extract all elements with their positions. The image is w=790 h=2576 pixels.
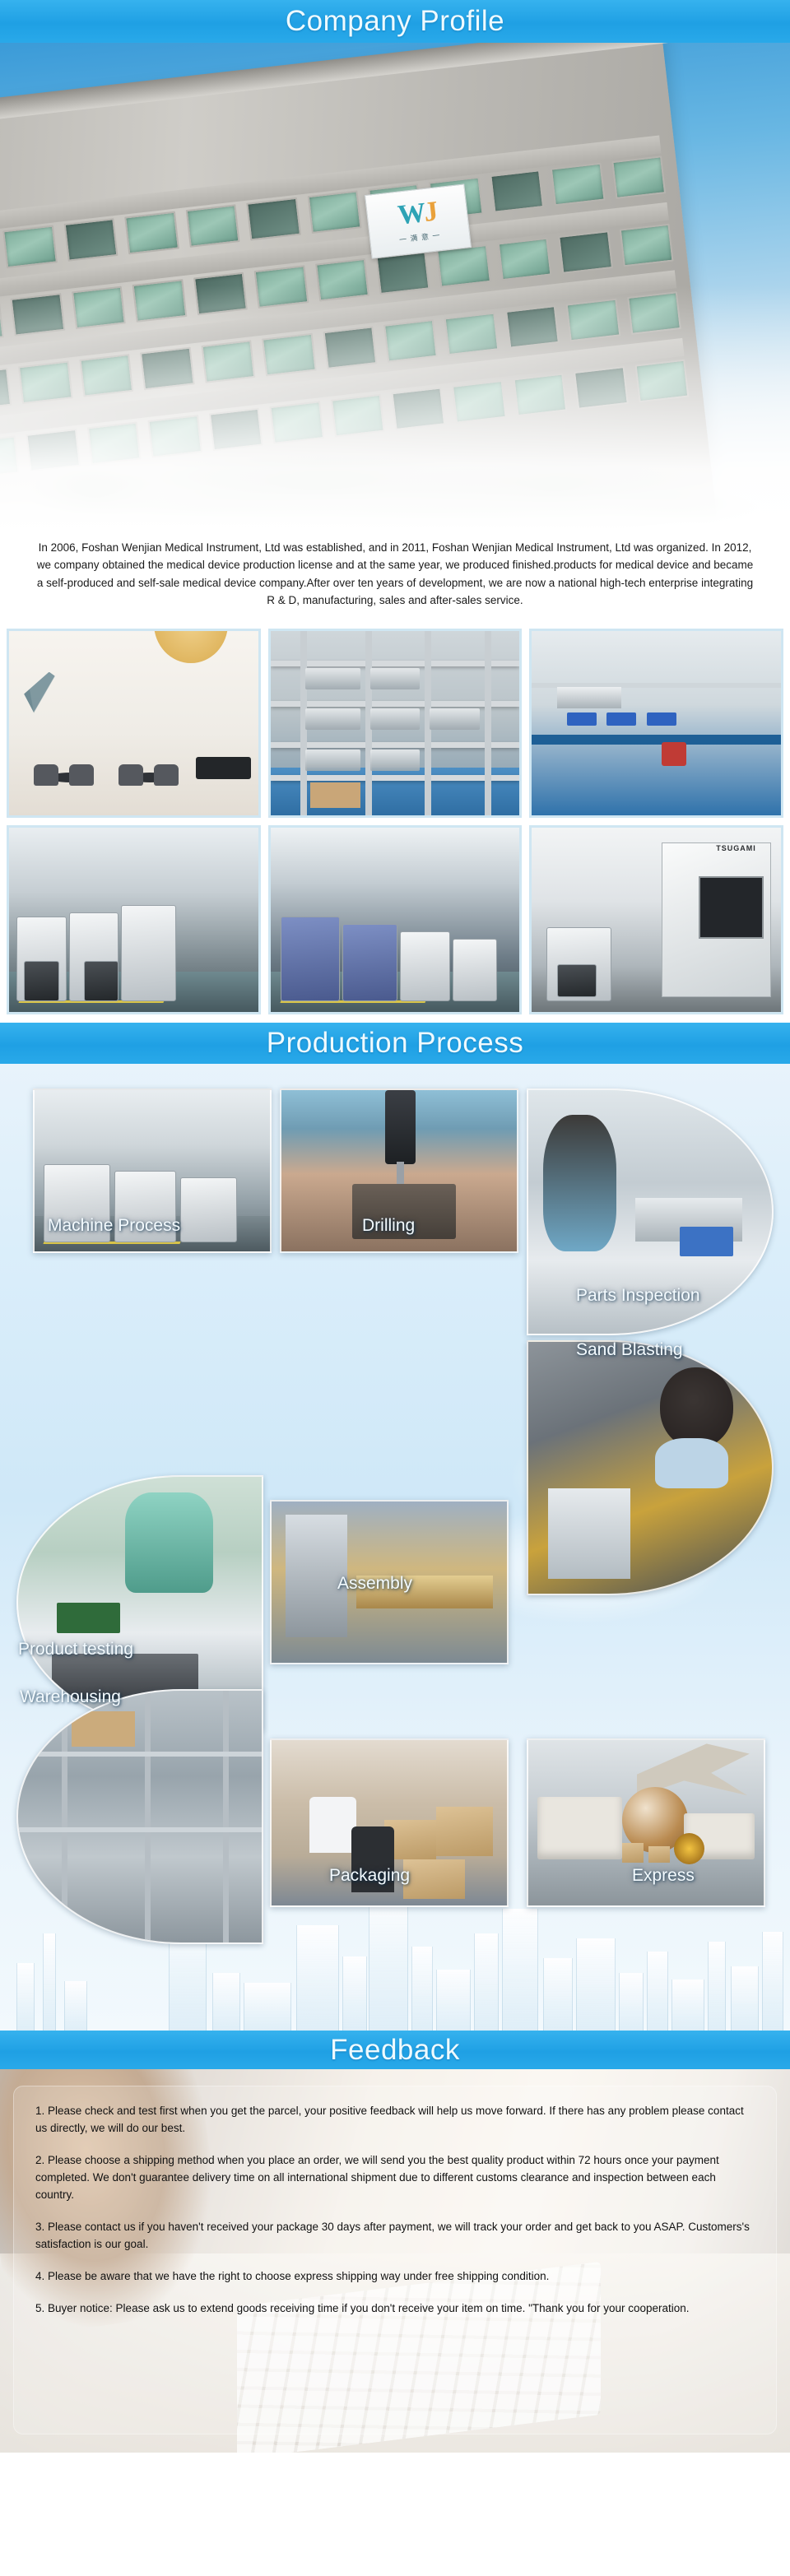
truck-icon: [537, 1797, 622, 1859]
company-photo-grid: TSUGAMI: [0, 627, 790, 1023]
process-photo-express: [527, 1738, 765, 1907]
machine-brand-label: TSUGAMI: [716, 844, 756, 852]
ceiling-lamp-icon: [154, 629, 228, 663]
feedback-item: 5. Buyer notice: Please ask us to extend…: [35, 2300, 755, 2318]
photo-cnc-machine-row: [7, 825, 261, 1014]
feedback-item: 4. Please be aware that we have the righ…: [35, 2268, 755, 2286]
company-logo-sign: WJ 一 满 意 一: [365, 183, 472, 258]
production-process-banner: Production Process: [0, 1023, 790, 1064]
feedback-item: 1. Please check and test first when you …: [35, 2103, 755, 2137]
process-photo-packaging: [270, 1738, 509, 1907]
product-detail-page: Company Profile: [0, 0, 790, 2576]
feedback-section: 1. Please check and test first when you …: [0, 2069, 790, 2453]
process-photo-machine-process: [33, 1088, 272, 1253]
process-photo-parts-inspection: [527, 1088, 774, 1335]
process-photo-drilling: [280, 1088, 518, 1253]
photo-office-showroom: [7, 629, 261, 818]
feedback-title: Feedback: [330, 2034, 460, 2067]
company-profile-banner: Company Profile: [0, 0, 790, 43]
sign-subtitle: 一 满 意 一: [398, 230, 441, 245]
process-photo-sand-blasting: [527, 1340, 774, 1595]
photo-assembly-line-hall: [529, 629, 783, 818]
feedback-text-card: 1. Please check and test first when you …: [13, 2086, 777, 2434]
company-intro-text: In 2006, Foshan Wenjian Medical Instrume…: [0, 532, 790, 627]
process-photo-assembly: [270, 1500, 509, 1664]
production-process-flow: Machine Process Drilling Parts Inspectio…: [0, 1064, 790, 2031]
feedback-item: 3. Please contact us if you haven't rece…: [35, 2219, 755, 2253]
photo-white-fade: [0, 285, 790, 532]
feedback-banner: Feedback: [0, 2031, 790, 2069]
company-profile-title: Company Profile: [286, 5, 504, 38]
company-building-photo: WJ 一 满 意 一: [0, 43, 790, 532]
production-process-title: Production Process: [267, 1027, 523, 1060]
feedback-item: 2. Please choose a shipping method when …: [35, 2152, 755, 2204]
photo-tsugami-cnc-machine: TSUGAMI: [529, 825, 783, 1014]
wj-logo-icon: WJ: [397, 198, 439, 230]
photo-warehouse-shelving: [268, 629, 523, 818]
photo-lathe-machine-row: [268, 825, 523, 1014]
